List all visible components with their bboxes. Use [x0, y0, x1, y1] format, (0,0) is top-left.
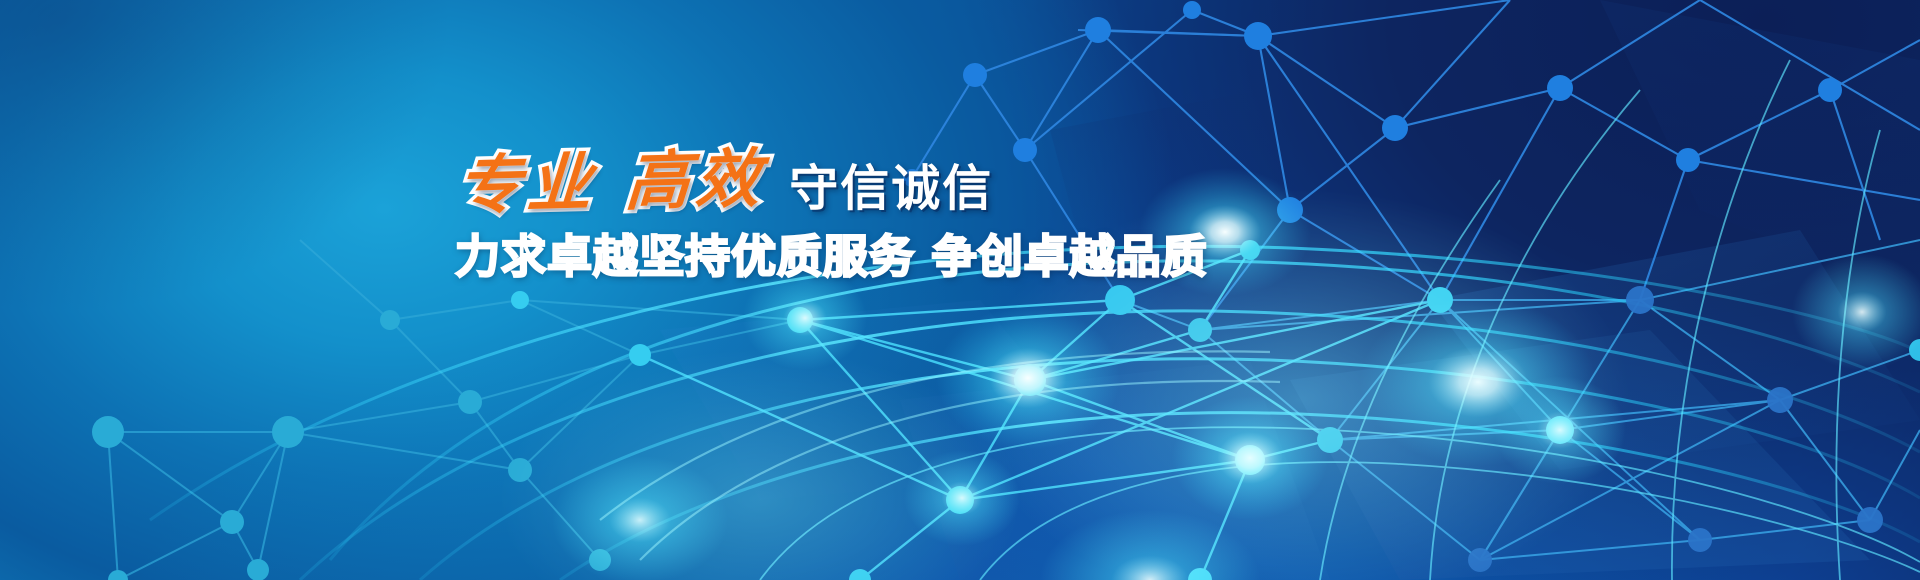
hero-banner: 专业 高效 守信诚信 力求卓越坚持优质服务 争创卓越品质: [0, 0, 1920, 580]
headline-accent-text: 专业 高效: [455, 147, 794, 219]
headline-line-2: 力求卓越坚持优质服务 争创卓越品质: [455, 233, 1155, 281]
headline-line-1: 专业 高效 守信诚信: [455, 133, 1155, 219]
headline-block: 专业 高效 守信诚信 力求卓越坚持优质服务 争创卓越品质: [455, 133, 1155, 281]
node-glow-halos: [0, 0, 1920, 580]
headline-plain-text: 守信诚信: [789, 164, 993, 219]
